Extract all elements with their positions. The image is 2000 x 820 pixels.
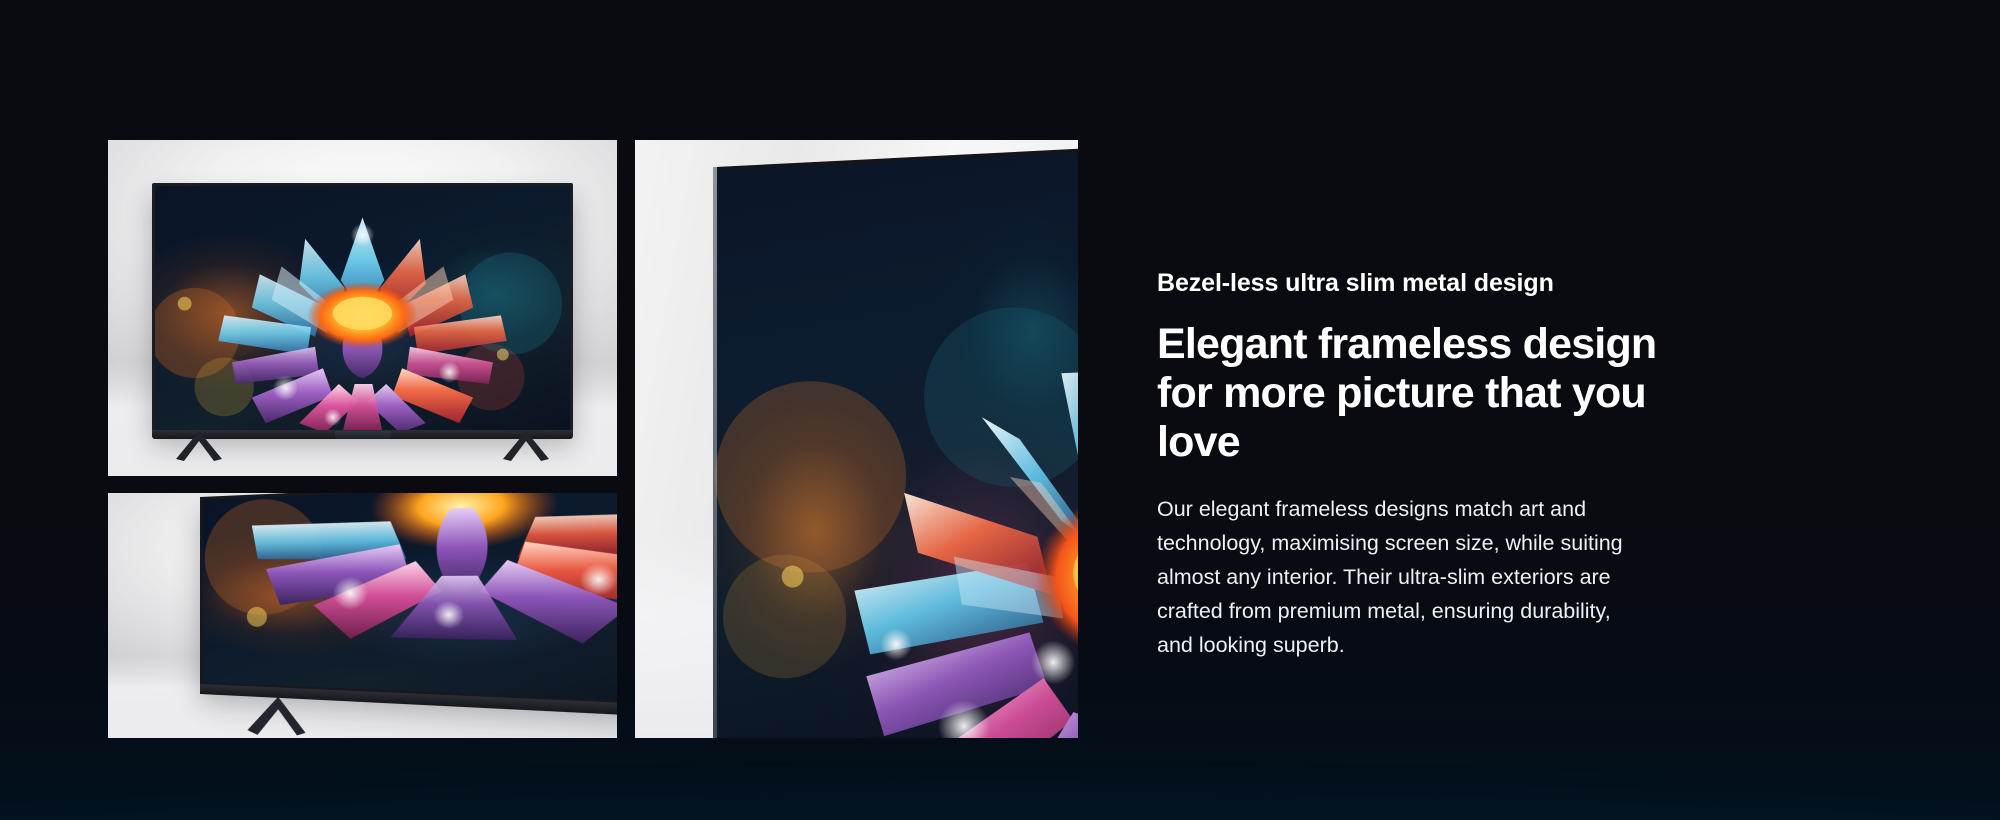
tv-stand-leg-right (497, 431, 555, 461)
crystal-lotus-artwork-closeup (203, 493, 617, 707)
body-paragraph: Our elegant frameless designs match art … (1157, 493, 1637, 663)
eyebrow-text: Bezel-less ultra slim metal design (1157, 268, 1797, 298)
panel-tv-bezel-closeup[interactable] (635, 140, 1078, 738)
product-image-gallery (108, 140, 1078, 738)
tv-brand-plate (335, 431, 391, 439)
tv-screen (155, 186, 570, 431)
panel-tv-front-view[interactable] (108, 140, 617, 476)
television-front (152, 183, 573, 431)
headline-text: Elegant frameless design for more pictur… (1157, 320, 1687, 467)
copy-block: Bezel-less ultra slim metal design Elega… (1157, 268, 1797, 663)
television-bezel-closeup (713, 146, 1078, 738)
crystal-lotus-artwork-macro (715, 148, 1078, 738)
crystal-lotus-artwork (155, 186, 570, 431)
bezel-edge-highlight (713, 146, 717, 738)
television-angled (200, 493, 617, 711)
tv-screen (203, 493, 617, 707)
tv-stand-leg-left (241, 695, 314, 738)
tv-stand-leg-left (170, 431, 228, 461)
panel-tv-angled-view[interactable] (108, 493, 617, 738)
gallery-left-column (108, 140, 617, 738)
tv-screen (715, 148, 1078, 738)
